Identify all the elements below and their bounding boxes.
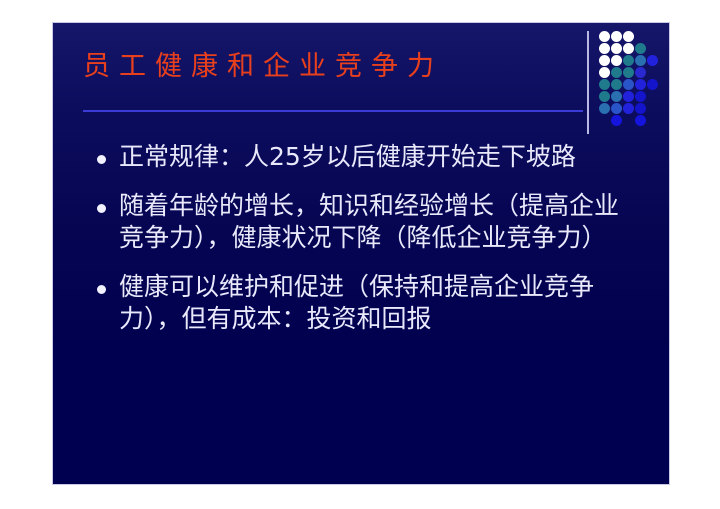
grid-dot-icon bbox=[635, 55, 646, 66]
slide-title-block: 员工健康和企业竞争力 bbox=[53, 23, 669, 135]
grid-dot-icon bbox=[599, 79, 610, 90]
title-vertical-divider bbox=[587, 31, 589, 134]
grid-dot-icon bbox=[611, 67, 622, 78]
bullet-text: 正常规律：人25岁以后健康开始走下坡路 bbox=[119, 141, 643, 174]
grid-dot-icon bbox=[623, 43, 634, 54]
grid-dot-icon bbox=[611, 91, 622, 102]
slide-body: 正常规律：人25岁以后健康开始走下坡路 随着年龄的增长，知识和经验增长（提高企业… bbox=[53, 141, 669, 352]
grid-dot-icon bbox=[599, 67, 610, 78]
grid-dot-icon bbox=[611, 103, 622, 114]
grid-dot-icon bbox=[611, 115, 622, 126]
grid-dot-icon bbox=[599, 43, 610, 54]
grid-dot-icon bbox=[623, 103, 634, 114]
grid-dot-icon bbox=[623, 91, 634, 102]
grid-dot-icon bbox=[599, 91, 610, 102]
grid-dot-icon bbox=[599, 103, 610, 114]
grid-dot-icon bbox=[599, 55, 610, 66]
title-underline-rule bbox=[83, 110, 583, 112]
list-item: 正常规律：人25岁以后健康开始走下坡路 bbox=[97, 141, 643, 174]
list-item: 健康可以维护和促进（保持和提高企业竞争力），但有成本：投资和回报 bbox=[97, 271, 643, 336]
grid-dot-icon bbox=[635, 103, 646, 114]
round-bullet-icon bbox=[97, 204, 106, 213]
grid-dot-icon bbox=[623, 55, 634, 66]
page-title: 员工健康和企业竞争力 bbox=[83, 53, 443, 80]
grid-dot-icon bbox=[623, 79, 634, 90]
grid-dot-icon bbox=[623, 67, 634, 78]
dot-grid-decoration-icon bbox=[599, 31, 661, 135]
grid-dot-icon bbox=[599, 31, 610, 42]
grid-dot-icon bbox=[635, 43, 646, 54]
round-bullet-icon bbox=[97, 285, 106, 294]
grid-dot-icon bbox=[647, 55, 658, 66]
grid-dot-icon bbox=[611, 79, 622, 90]
grid-dot-icon bbox=[635, 67, 646, 78]
grid-dot-icon bbox=[611, 55, 622, 66]
round-bullet-icon bbox=[97, 155, 106, 164]
bullet-text: 随着年龄的增长，知识和经验增长（提高企业竞争力），健康状况下降（降低企业竞争力） bbox=[119, 190, 643, 255]
grid-dot-icon bbox=[635, 115, 646, 126]
grid-dot-icon bbox=[611, 43, 622, 54]
grid-dot-icon bbox=[623, 31, 634, 42]
grid-dot-icon bbox=[635, 79, 646, 90]
grid-dot-icon bbox=[611, 31, 622, 42]
grid-dot-icon bbox=[635, 91, 646, 102]
presentation-slide: 员工健康和企业竞争力 正常规律：人25岁以后健康开始走下坡路 随着年龄的增长，知… bbox=[52, 22, 670, 485]
list-item: 随着年龄的增长，知识和经验增长（提高企业竞争力），健康状况下降（降低企业竞争力） bbox=[97, 190, 643, 255]
bullet-text: 健康可以维护和促进（保持和提高企业竞争力），但有成本：投资和回报 bbox=[119, 271, 643, 336]
grid-dot-icon bbox=[647, 79, 658, 90]
